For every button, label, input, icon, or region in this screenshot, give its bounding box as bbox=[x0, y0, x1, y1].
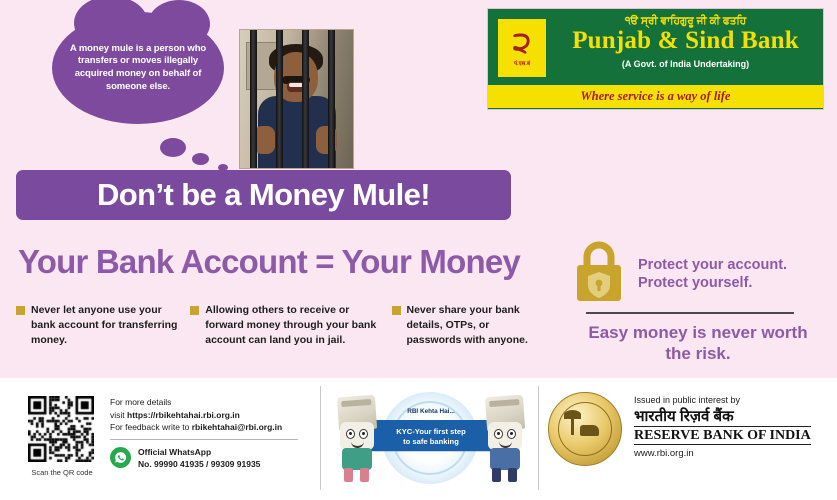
bullet-item: Never let anyone use your bank account f… bbox=[16, 303, 178, 348]
jail-photo bbox=[239, 29, 354, 169]
bank-name: Punjab & Sind Bank bbox=[554, 27, 817, 55]
whatsapp-title: Official WhatsApp bbox=[138, 447, 211, 457]
qr-code[interactable] bbox=[28, 396, 94, 462]
rbi-name-english: RESERVE BANK OF INDIA bbox=[634, 426, 811, 445]
bullet-text: Allowing others to receive or forward mo… bbox=[205, 303, 379, 348]
kyc-ribbon-line-1: KYC-Your first step bbox=[396, 427, 465, 436]
bubble-dot-medium bbox=[192, 153, 209, 165]
issued-by-label: Issued in public interest by bbox=[634, 395, 811, 405]
mascot-left bbox=[330, 396, 384, 482]
jail-bar bbox=[276, 30, 283, 168]
protect-row: Protect your account. Protect yourself. bbox=[572, 240, 828, 302]
bank-tagline: Where service is a way of life bbox=[581, 89, 731, 104]
poster-root: A money mule is a person who transfers o… bbox=[0, 0, 837, 500]
whatsapp-text: Official WhatsApp No. 99990 41935 / 9930… bbox=[138, 446, 260, 470]
contact-info: For more details visit https://rbikehtah… bbox=[110, 396, 310, 470]
mascot-face bbox=[488, 422, 522, 450]
mascot-eye bbox=[359, 429, 368, 439]
protect-divider bbox=[586, 312, 794, 314]
rbi-block: Issued in public interest by भारतीय रिज़र… bbox=[548, 392, 828, 466]
whatsapp-numbers: No. 99990 41935 / 99309 91935 bbox=[138, 459, 260, 469]
rbi-name-hindi: भारतीय रिज़र्व बैंक bbox=[634, 407, 811, 426]
mascot-leg bbox=[492, 468, 501, 482]
mascot-eye bbox=[346, 429, 355, 439]
mascot-right bbox=[478, 396, 532, 482]
protect-text: Protect your account. Protect yourself. bbox=[638, 240, 787, 292]
rbi-seal-inner bbox=[569, 415, 601, 445]
kyc-mascot-graphic: RBI Kehta Hai... KYC-Your first step to … bbox=[330, 388, 535, 488]
bullet-item: Never share your bank details, OTPs, or … bbox=[392, 303, 547, 348]
thought-bubble-text: A money mule is a person who transfers o… bbox=[52, 43, 224, 93]
bank-logo-top: ੨ पं.एस.बं ੧ੳ ਸ੍ਰੀ ਵਾਹਿਗੁਰੂ ਜੀ ਕੀ ਫਤਹਿ P… bbox=[488, 9, 823, 85]
palm-tree-icon bbox=[571, 415, 574, 435]
visit-line: visit https://rbikehtahai.rbi.org.in bbox=[110, 409, 310, 422]
kyc-ribbon-line-2: to safe banking bbox=[403, 437, 459, 446]
bullet-list: Never let anyone use your bank account f… bbox=[16, 303, 546, 348]
jail-bar bbox=[302, 30, 309, 168]
headline-banner: Don’t be a Money Mule! bbox=[16, 170, 511, 220]
feedback-line: For feedback write to rbikehtahai@rbi.or… bbox=[110, 421, 310, 434]
bullet-square-icon bbox=[190, 306, 199, 315]
rbi-url[interactable]: www.rbi.org.in bbox=[634, 448, 811, 459]
punjab-sind-bank-logo: ੨ पं.एस.बं ੧ੳ ਸ੍ਰੀ ਵਾਹਿਗੁਰੂ ਜੀ ਕੀ ਫਤਹਿ P… bbox=[487, 8, 824, 110]
feedback-label: For feedback write to bbox=[110, 422, 192, 432]
mascot-torso bbox=[490, 448, 520, 470]
whatsapp-icon bbox=[110, 447, 131, 468]
kyc-ribbon-text: KYC-Your first step to safe banking bbox=[396, 427, 465, 447]
rbi-text: Issued in public interest by भारतीय रिज़र… bbox=[634, 392, 811, 466]
headline-text: Don’t be a Money Mule! bbox=[97, 177, 430, 213]
feedback-email[interactable]: rbikehtahai@rbi.org.in bbox=[192, 422, 282, 432]
mascot-smile bbox=[351, 440, 364, 448]
protect-section: Protect your account. Protect yourself. … bbox=[572, 240, 828, 364]
thought-bubble: A money mule is a person who transfers o… bbox=[52, 12, 242, 162]
mascot-torso bbox=[342, 448, 372, 470]
visit-label: visit bbox=[110, 410, 127, 420]
mascot-face bbox=[340, 422, 374, 450]
equation-heading: Your Bank Account = Your Money bbox=[18, 243, 538, 281]
thought-bubble-body: A money mule is a person who transfers o… bbox=[52, 12, 224, 124]
mascot-leg bbox=[360, 468, 369, 482]
mascot-legs bbox=[344, 468, 370, 482]
padlock-icon bbox=[572, 240, 626, 302]
jail-bar bbox=[250, 30, 257, 168]
mascot-eye bbox=[507, 429, 516, 439]
prisoner-hand-left bbox=[254, 126, 275, 154]
easy-money-text: Easy money is never worth the risk. bbox=[580, 322, 816, 364]
tiger-icon bbox=[580, 425, 599, 436]
mascot-leg bbox=[508, 468, 517, 482]
bubble-dot-large bbox=[160, 138, 186, 157]
mascot-smile bbox=[499, 440, 512, 448]
protect-line-2: Protect yourself. bbox=[638, 274, 787, 292]
bullet-text: Never share your bank details, OTPs, or … bbox=[407, 303, 547, 348]
contact-divider bbox=[110, 439, 298, 440]
bank-emblem-glyph: ੨ bbox=[513, 29, 531, 57]
footer-divider-left bbox=[320, 386, 321, 490]
bank-emblem-subtext: पं.एस.बं bbox=[514, 59, 530, 67]
jail-bar bbox=[328, 30, 335, 168]
footer-divider-right bbox=[538, 386, 539, 490]
mascot-leg bbox=[344, 468, 353, 482]
bullet-item: Allowing others to receive or forward mo… bbox=[190, 303, 379, 348]
bank-subtitle: (A Govt. of India Undertaking) bbox=[554, 59, 817, 69]
more-details-label: For more details bbox=[110, 396, 310, 409]
protect-line-1: Protect your account. bbox=[638, 256, 787, 274]
bank-tagline-bar: Where service is a way of life bbox=[488, 85, 823, 108]
rbi-kehta-hai-text: RBI Kehta Hai... bbox=[382, 408, 480, 415]
bullet-square-icon bbox=[16, 306, 25, 315]
mascot-eye bbox=[494, 429, 503, 439]
mascot-legs bbox=[492, 468, 518, 482]
qr-caption: Scan the QR code bbox=[22, 468, 102, 477]
bank-emblem-icon: ੨ पं.एस.बं bbox=[498, 19, 546, 77]
rbi-seal-icon bbox=[548, 392, 622, 466]
visit-url[interactable]: https://rbikehtahai.rbi.org.in bbox=[127, 410, 240, 420]
bullet-square-icon bbox=[392, 306, 401, 315]
whatsapp-row: Official WhatsApp No. 99990 41935 / 9930… bbox=[110, 446, 310, 470]
bullet-text: Never let anyone use your bank account f… bbox=[31, 303, 178, 348]
